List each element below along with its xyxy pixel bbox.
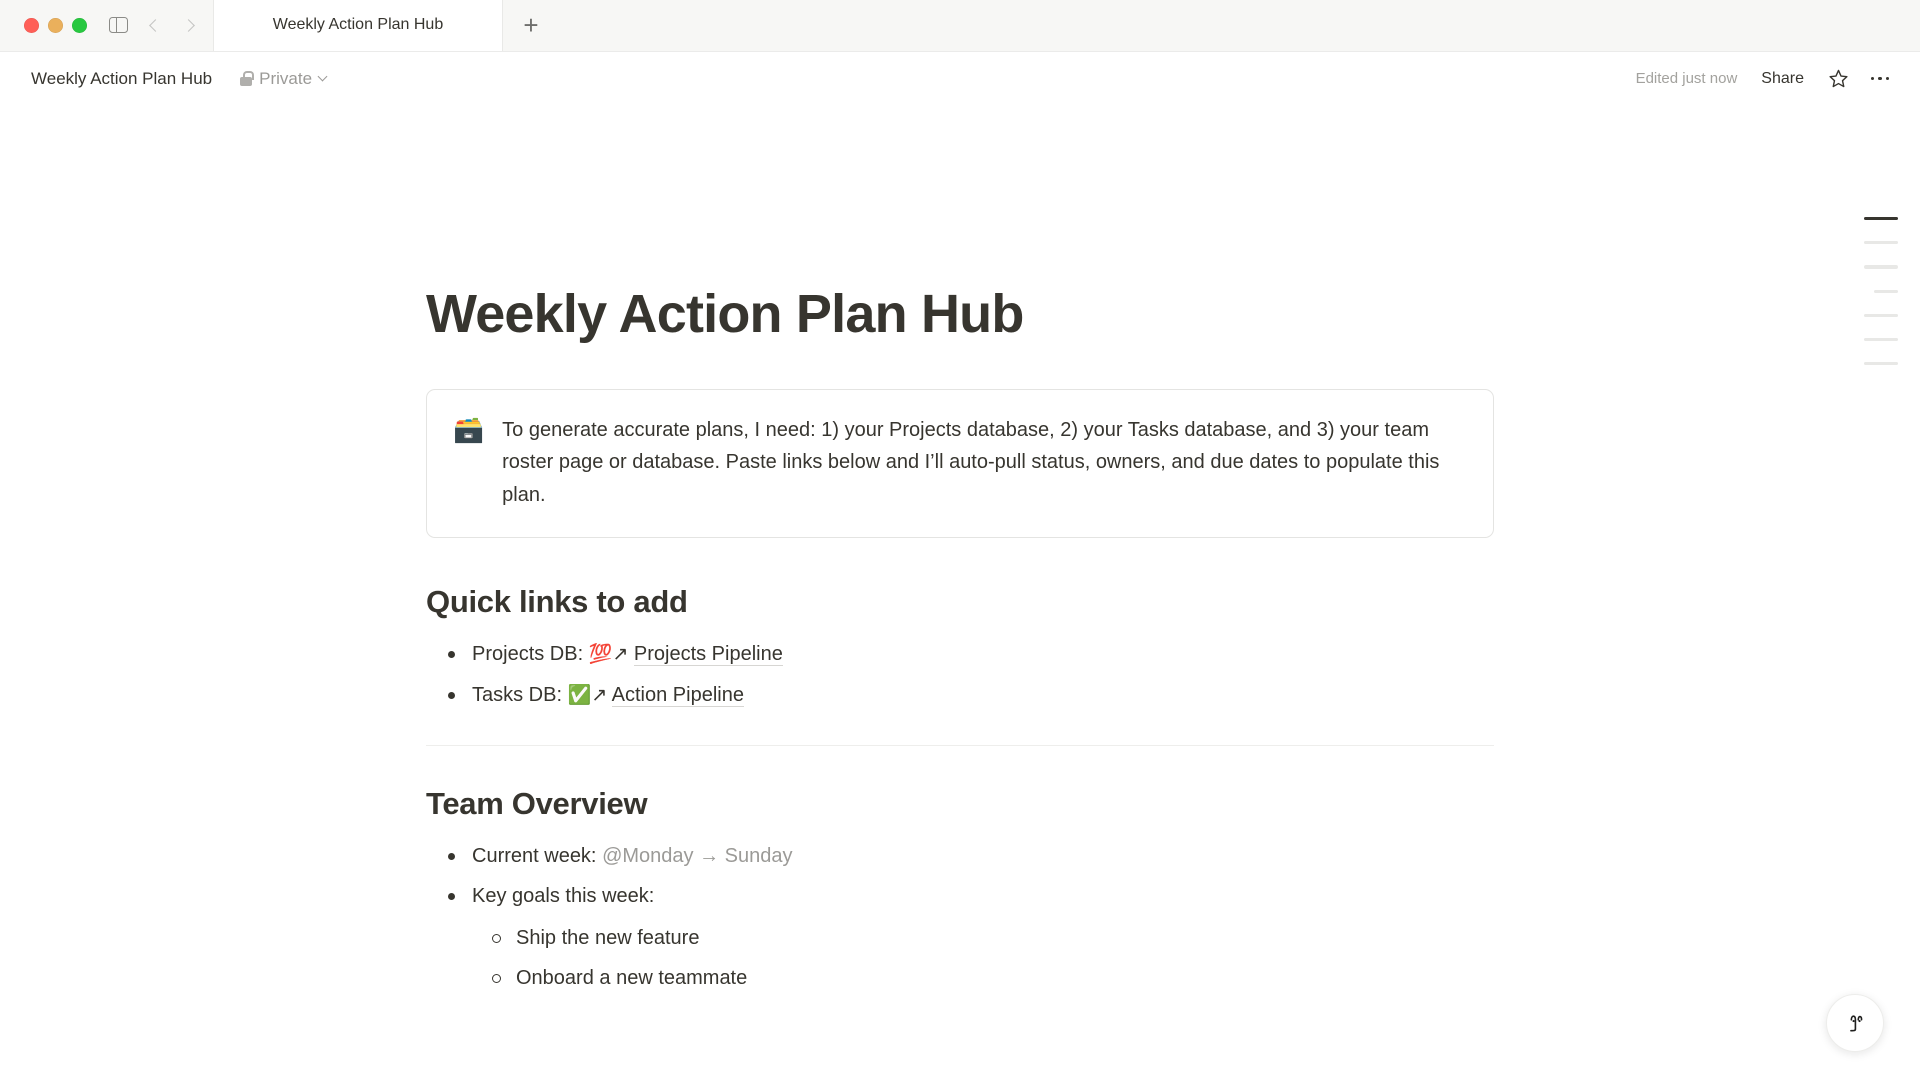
share-button[interactable]: Share (1751, 65, 1814, 93)
chevron-down-icon (318, 72, 328, 82)
card-file-box-emoji: 🗃️ (453, 414, 484, 511)
traffic-light-controls (0, 0, 101, 51)
edited-status: Edited just now (1628, 66, 1746, 91)
section-heading-quick-links[interactable]: Quick links to add (426, 584, 1494, 620)
chevron-left-icon (149, 19, 162, 32)
quick-links-list: Projects DB: 💯↗ Projects Pipeline Tasks … (426, 634, 1494, 715)
key-goals-sublist-wrap: Ship the new feature Onboard a new teamm… (426, 918, 1494, 998)
hundred-points-emoji: 💯 (589, 644, 611, 665)
table-of-contents-minimap[interactable] (1864, 217, 1898, 365)
toc-entry[interactable] (1864, 338, 1898, 341)
callout-text: To generate accurate plans, I need: 1) y… (502, 414, 1467, 511)
window-titlebar: Weekly Action Plan Hub + (0, 0, 1920, 52)
link-arrow-icon: ↗ (591, 685, 605, 706)
favorite-button[interactable] (1820, 63, 1856, 95)
check-mark-emoji: ✅ (568, 685, 590, 706)
current-week-value[interactable]: @Monday → Sunday (602, 845, 792, 867)
page-topbar: Weekly Action Plan Hub Private Edited ju… (0, 52, 1920, 105)
list-item-key-goals[interactable]: Key goals this week: (426, 876, 1494, 916)
lock-icon (240, 71, 252, 86)
plus-icon: + (523, 10, 538, 41)
new-tab-button[interactable]: + (503, 0, 559, 51)
page-scroll-area[interactable]: Weekly Action Plan Hub 🗃️ To generate ac… (0, 105, 1920, 1080)
section-divider (426, 745, 1494, 746)
tab-weekly-action-plan-hub[interactable]: Weekly Action Plan Hub (213, 0, 503, 51)
topbar-actions: Edited just now Share (1628, 63, 1898, 95)
notion-ai-face-icon (1842, 1010, 1868, 1036)
key-goals-sublist: Ship the new feature Onboard a new teamm… (472, 918, 1494, 998)
list-item-projects-db[interactable]: Projects DB: 💯↗ Projects Pipeline (426, 634, 1494, 675)
team-overview-list: Current week: @Monday → Sunday Key goals… (426, 836, 1494, 916)
sidebar-toggle-icon (109, 17, 128, 33)
chevron-right-icon (182, 19, 195, 32)
current-week-label: Current week: (472, 845, 597, 867)
privacy-label: Private (259, 69, 312, 89)
star-icon (1828, 68, 1849, 89)
callout-block[interactable]: 🗃️ To generate accurate plans, I need: 1… (426, 389, 1494, 538)
toc-entry[interactable] (1864, 362, 1898, 365)
list-item-tasks-db[interactable]: Tasks DB: ✅↗ Action Pipeline (426, 675, 1494, 716)
tasks-db-prefix: Tasks DB: (472, 684, 562, 706)
sidebar-toggle-button[interactable] (101, 8, 135, 42)
more-options-button[interactable] (1862, 63, 1898, 95)
list-item-current-week[interactable]: Current week: @Monday → Sunday (426, 836, 1494, 876)
close-window-button[interactable] (24, 18, 39, 33)
page-content: Weekly Action Plan Hub 🗃️ To generate ac… (426, 105, 1494, 998)
link-projects-pipeline[interactable]: Projects Pipeline (634, 643, 783, 666)
toc-entry[interactable] (1864, 314, 1898, 317)
list-item-goal-1[interactable]: Ship the new feature (472, 918, 1494, 958)
forward-button[interactable] (173, 8, 207, 42)
notion-ai-button[interactable] (1826, 994, 1884, 1052)
minimize-window-button[interactable] (48, 18, 63, 33)
privacy-selector[interactable]: Private (233, 66, 333, 92)
link-action-pipeline[interactable]: Action Pipeline (612, 684, 744, 707)
toc-entry[interactable] (1874, 290, 1898, 293)
tab-label: Weekly Action Plan Hub (273, 16, 443, 34)
window-nav-controls (101, 0, 213, 51)
projects-db-prefix: Projects DB: (472, 643, 583, 665)
toc-entry[interactable] (1864, 217, 1898, 220)
key-goals-label: Key goals this week: (472, 885, 654, 907)
tab-strip: Weekly Action Plan Hub + (213, 0, 559, 51)
toc-entry[interactable] (1864, 265, 1898, 268)
breadcrumb[interactable]: Weekly Action Plan Hub (24, 66, 219, 92)
zoom-window-button[interactable] (72, 18, 87, 33)
link-arrow-icon: ↗ (612, 644, 626, 665)
section-heading-team-overview[interactable]: Team Overview (426, 786, 1494, 822)
toc-entry[interactable] (1864, 241, 1898, 244)
list-item-goal-2[interactable]: Onboard a new teammate (472, 958, 1494, 998)
ellipsis-icon (1871, 77, 1890, 81)
page-title[interactable]: Weekly Action Plan Hub (426, 283, 1494, 345)
back-button[interactable] (137, 8, 171, 42)
